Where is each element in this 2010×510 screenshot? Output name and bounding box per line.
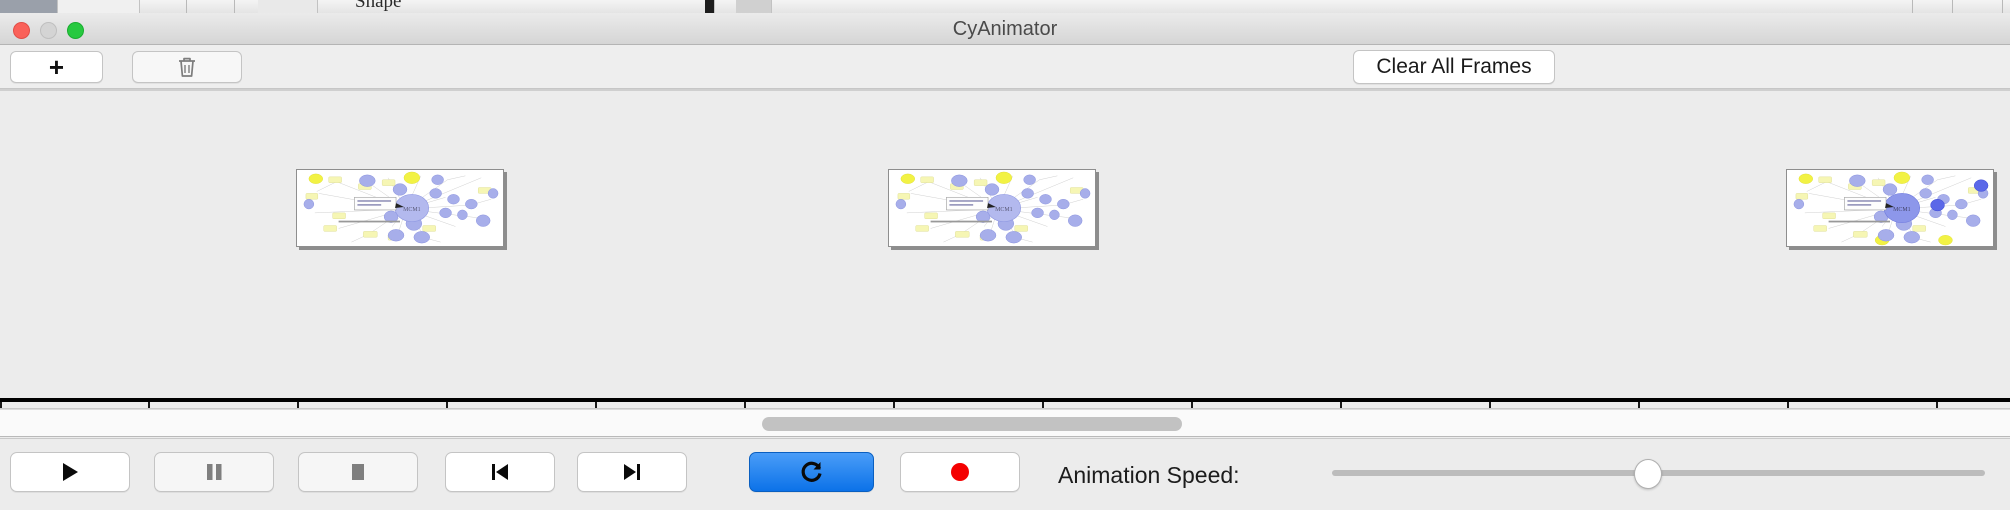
clear-all-frames-button[interactable]: Clear All Frames (1353, 50, 1555, 84)
axis-minor-tick (1340, 402, 1342, 409)
bg-tab (258, 0, 318, 13)
bg-tab (0, 0, 58, 13)
skip-to-start-button[interactable] (445, 452, 555, 492)
timeline-panel[interactable]: MCM1 (0, 89, 2010, 409)
timeline-frame-thumbnail[interactable]: MCM1 (888, 169, 1096, 247)
timeline-top-divider (0, 89, 2010, 91)
bg-tab (58, 0, 140, 13)
network-graph-thumbnail: MCM1 (297, 170, 503, 246)
annotation-callout (946, 197, 988, 210)
playback-control-bar: Animation Speed: (0, 438, 2010, 510)
axis-minor-tick (1638, 402, 1640, 409)
axis-minor-tick (446, 402, 448, 409)
axis-major-tick (1787, 402, 1789, 409)
axis-major-tick (1191, 402, 1193, 409)
animation-speed-slider-thumb[interactable] (1634, 459, 1662, 489)
bg-window-text: Shape (355, 0, 401, 13)
timeline-axis-line (0, 398, 2010, 402)
annotation-callout (1844, 197, 1886, 210)
skip-back-icon (489, 460, 511, 484)
pause-icon (203, 460, 225, 484)
axis-major-tick (1489, 402, 1491, 409)
timeline-frame-thumbnail[interactable]: MCM1 (296, 169, 504, 247)
skip-forward-icon (621, 460, 643, 484)
frame-toolbar: + Clear All Frames (0, 45, 2010, 89)
skip-to-end-button[interactable] (577, 452, 687, 492)
delete-frame-button[interactable] (132, 51, 242, 83)
network-graph-thumbnail: MCM1 (1787, 170, 1993, 246)
timeline-scrollbar-thumb[interactable] (762, 417, 1182, 431)
animation-speed-label: Animation Speed: (1058, 462, 1240, 489)
trash-icon (176, 55, 198, 79)
loop-button[interactable] (749, 452, 874, 492)
clear-all-frames-label: Clear All Frames (1376, 55, 1531, 79)
stop-button[interactable] (298, 452, 418, 492)
pause-button[interactable] (154, 452, 274, 492)
axis-minor-tick (744, 402, 746, 409)
timeline-frame-thumbnail[interactable]: MCM1 (1786, 169, 1994, 247)
central-node-label: MCM1 (995, 207, 1013, 213)
window-title: CyAnimator (0, 13, 2010, 45)
central-node-label: MCM1 (1893, 207, 1911, 213)
axis-major-tick (595, 402, 597, 409)
axis-major-tick (0, 402, 2, 409)
stop-icon (347, 460, 369, 484)
background-window-strip: Shape (0, 0, 2010, 13)
axis-major-tick (893, 402, 895, 409)
plus-icon: + (49, 54, 64, 80)
axis-major-tick (297, 402, 299, 409)
bg-tab (705, 0, 715, 13)
annotation-callout (354, 197, 396, 210)
play-button[interactable] (10, 452, 130, 492)
loop-icon (799, 459, 825, 485)
record-button[interactable] (900, 452, 1020, 492)
window-title-bar: CyAnimator (0, 13, 2010, 45)
central-node-label: MCM1 (403, 207, 421, 213)
timeline-scrollbar[interactable] (0, 409, 2010, 437)
network-graph-thumbnail: MCM1 (889, 170, 1095, 246)
add-frame-button[interactable]: + (10, 51, 103, 83)
play-icon (59, 460, 81, 484)
axis-minor-tick (1042, 402, 1044, 409)
axis-minor-tick (148, 402, 150, 409)
bg-tab (736, 0, 772, 13)
axis-minor-tick (1936, 402, 1938, 409)
record-icon (948, 460, 972, 484)
